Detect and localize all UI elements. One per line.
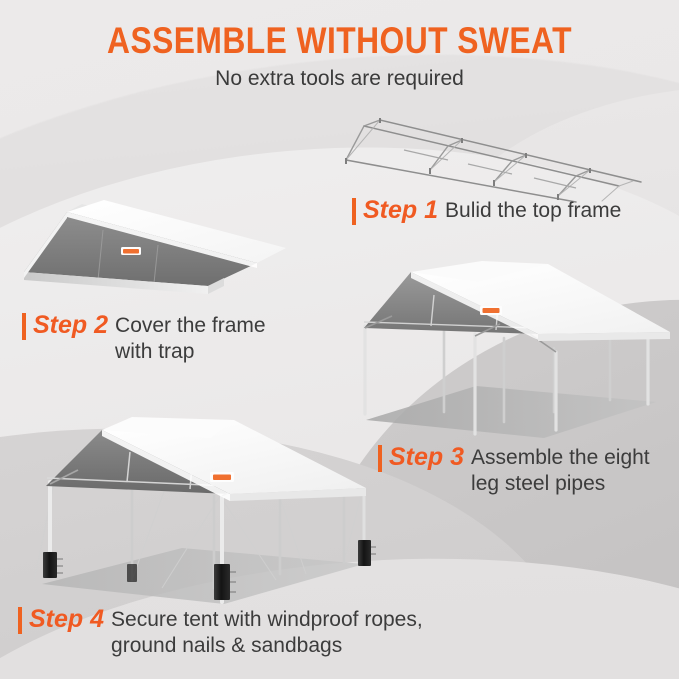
vevor-logo — [480, 306, 502, 315]
page-title: ASSEMBLE WITHOUT SWEAT — [48, 22, 632, 61]
step-1-text: Bulid the top frame — [445, 196, 621, 224]
step-3-caption: Step 3 Assemble the eight leg steel pipe… — [378, 443, 650, 496]
step-4-text: Secure tent with windproof ropes, ground… — [111, 605, 423, 658]
step-1-label: Step 1 — [356, 196, 445, 224]
canopy-tarp — [8, 190, 293, 310]
step-2-text: Cover the frame with trap — [115, 311, 266, 364]
step-3-label: Step 3 — [382, 443, 471, 471]
top-frame-wireframe — [344, 112, 644, 207]
vevor-logo — [210, 472, 234, 482]
step-3-text: Assemble the eight leg steel pipes — [471, 443, 650, 496]
illustration-secured-tent — [14, 412, 414, 612]
header: ASSEMBLE WITHOUT SWEAT No extra tools ar… — [0, 22, 679, 91]
carport-tent-complete — [14, 412, 414, 612]
step-2-caption: Step 2 Cover the frame with trap — [22, 311, 266, 364]
sandbag — [127, 564, 137, 582]
sandbag — [43, 552, 63, 578]
step-4-label: Step 4 — [22, 605, 111, 633]
vevor-logo — [121, 247, 141, 255]
illustration-top-frame — [344, 112, 644, 207]
step-4-caption: Step 4 Secure tent with windproof ropes,… — [18, 605, 423, 658]
step-1-caption: Step 1 Bulid the top frame — [352, 196, 621, 225]
infographic-canvas: ASSEMBLE WITHOUT SWEAT No extra tools ar… — [0, 0, 679, 679]
illustration-tarp-cover — [8, 190, 293, 310]
sandbag — [358, 540, 376, 566]
page-subtitle: No extra tools are required — [0, 67, 679, 91]
step-2-label: Step 2 — [26, 311, 115, 339]
